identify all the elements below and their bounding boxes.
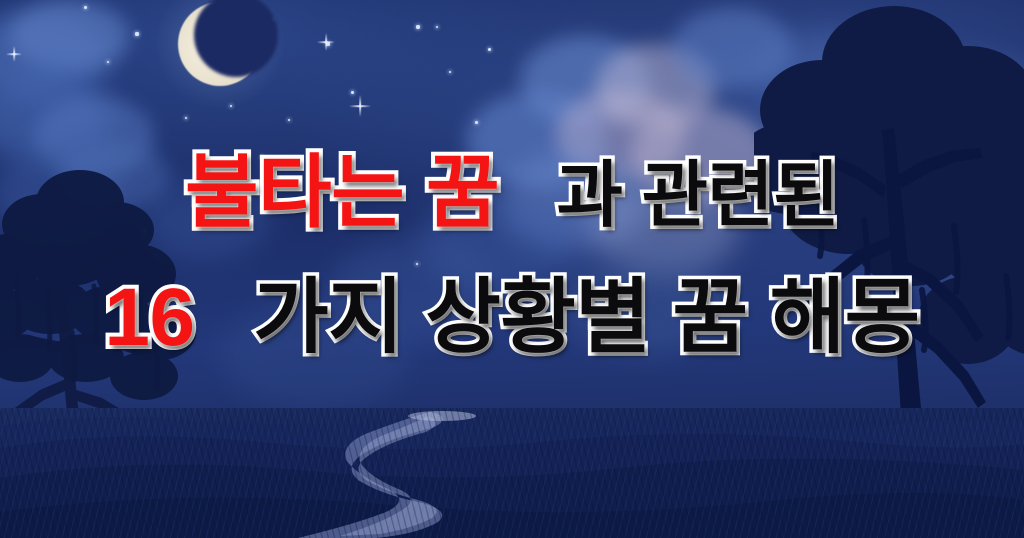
title-block: 불타는 꿈 과 관련된 16 가지 상황별 꿈 해몽 — [0, 152, 1024, 359]
title-line-2: 16 가지 상황별 꿈 해몽 — [0, 276, 1024, 360]
star-icon — [107, 61, 110, 64]
star-icon — [436, 26, 438, 28]
star-glint-icon — [6, 46, 22, 62]
landscape-foreground — [0, 408, 1024, 538]
thumbnail-banner: 불타는 꿈 과 관련된 16 가지 상황별 꿈 해몽 — [0, 0, 1024, 538]
star-icon — [84, 6, 87, 9]
star-icon — [475, 121, 478, 124]
title-line-1-rest: 과 관련된 — [557, 160, 839, 233]
star-glint-icon — [349, 95, 371, 117]
crescent-moon-icon — [178, 2, 262, 86]
star-icon — [326, 42, 329, 45]
title-highlight-burning-dream: 불타는 꿈 — [185, 152, 499, 234]
star-icon — [288, 119, 291, 122]
title-count-16: 16 — [104, 276, 194, 360]
title-line-2-rest: 가지 상황별 꿈 해몽 — [253, 276, 919, 360]
grass-texture — [0, 408, 1024, 538]
star-icon — [449, 71, 452, 74]
star-icon — [488, 48, 491, 51]
title-line-1: 불타는 꿈 과 관련된 — [0, 152, 1024, 234]
star-icon — [135, 32, 138, 35]
star-icon — [416, 25, 419, 28]
star-icon — [351, 91, 354, 94]
star-icon — [185, 117, 187, 119]
